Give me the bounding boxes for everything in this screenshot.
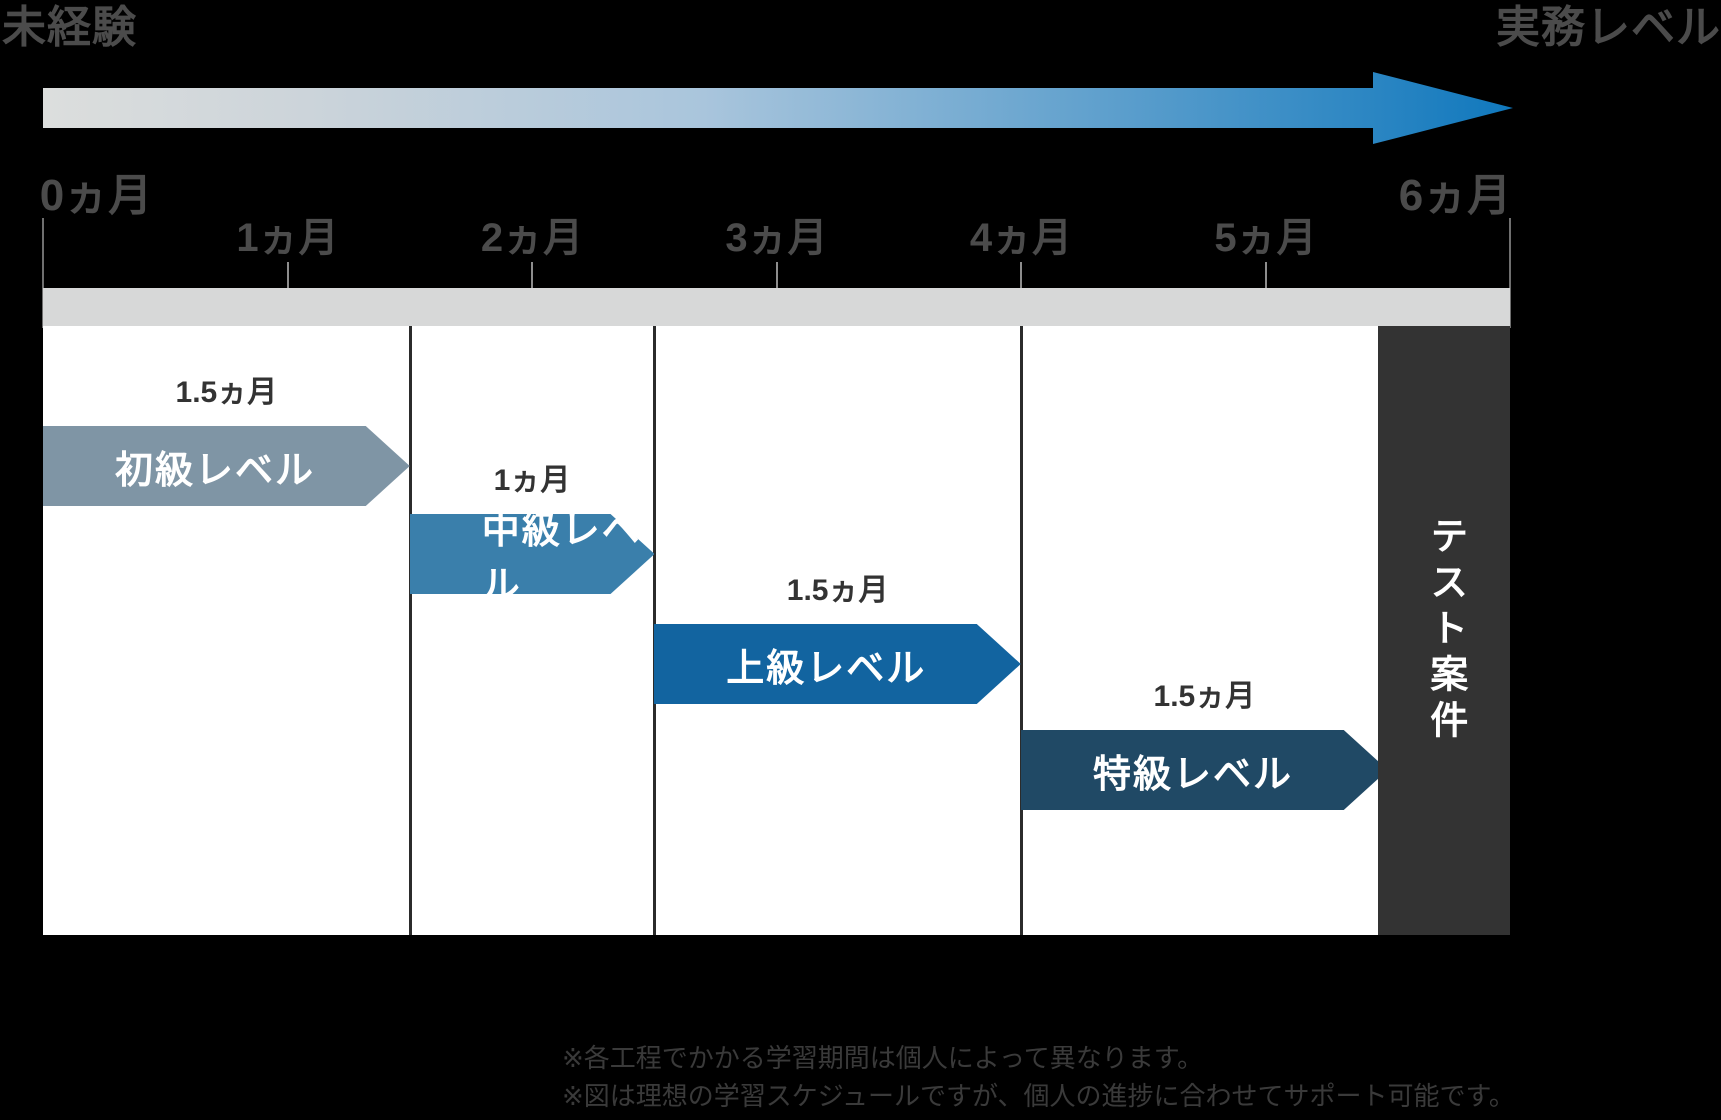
- start-level-label: 未経験: [2, 6, 137, 50]
- footnote-line: ※各工程でかかる学習期間は個人によって異なります。: [562, 1040, 1712, 1078]
- end-level-label: 実務レベル: [1496, 6, 1721, 50]
- axis-band: [43, 288, 1510, 326]
- axis-tick-label: 1ヵ月: [236, 218, 338, 258]
- roadmap-diagram: 未経験 実務レベル 0ヵ月1ヵ月2ヵ月3ヵ月4ヵ月5ヵ月6ヵ月 1.5ヵ月初級レ…: [0, 0, 1721, 1120]
- axis-tick-label: 2ヵ月: [481, 218, 583, 258]
- stage-duration-label: 1.5ヵ月: [176, 378, 278, 408]
- stage-bar: 初級レベル: [43, 426, 410, 506]
- stage-duration-label: 1ヵ月: [494, 466, 571, 496]
- axis-tick-label: 5ヵ月: [1214, 218, 1316, 258]
- axis-tick-label: 4ヵ月: [970, 218, 1072, 258]
- footnote-line: ※図は理想の学習スケジュールですが、個人の進捗に合わせてサポート可能です。: [562, 1078, 1712, 1116]
- stage-bar: 特級レベル: [1021, 730, 1388, 810]
- stage-bar: 上級レベル: [654, 624, 1021, 704]
- footnotes: ※各工程でかかる学習期間は個人によって異なります。 ※図は理想の学習スケジュール…: [562, 1040, 1712, 1115]
- stage-duration-label: 1.5ヵ月: [787, 576, 889, 606]
- progress-gradient-arrow-icon: [43, 72, 1513, 144]
- timeline-plot-area: 1.5ヵ月初級レベル1ヵ月中級レベル1.5ヵ月上級レベル1.5ヵ月特級レベル: [43, 326, 1510, 935]
- test-assignment-label: テスト案件: [1420, 516, 1468, 746]
- axis-tick-label: 6ヵ月: [1399, 174, 1511, 218]
- stage-duration-label: 1.5ヵ月: [1154, 682, 1256, 712]
- test-assignment-panel: テスト案件: [1378, 326, 1510, 935]
- stage-divider-line: [409, 326, 412, 935]
- axis-tick-label: 0ヵ月: [40, 174, 152, 218]
- stage-bar: 中級レベル: [410, 514, 655, 594]
- axis-tick-label: 3ヵ月: [725, 218, 827, 258]
